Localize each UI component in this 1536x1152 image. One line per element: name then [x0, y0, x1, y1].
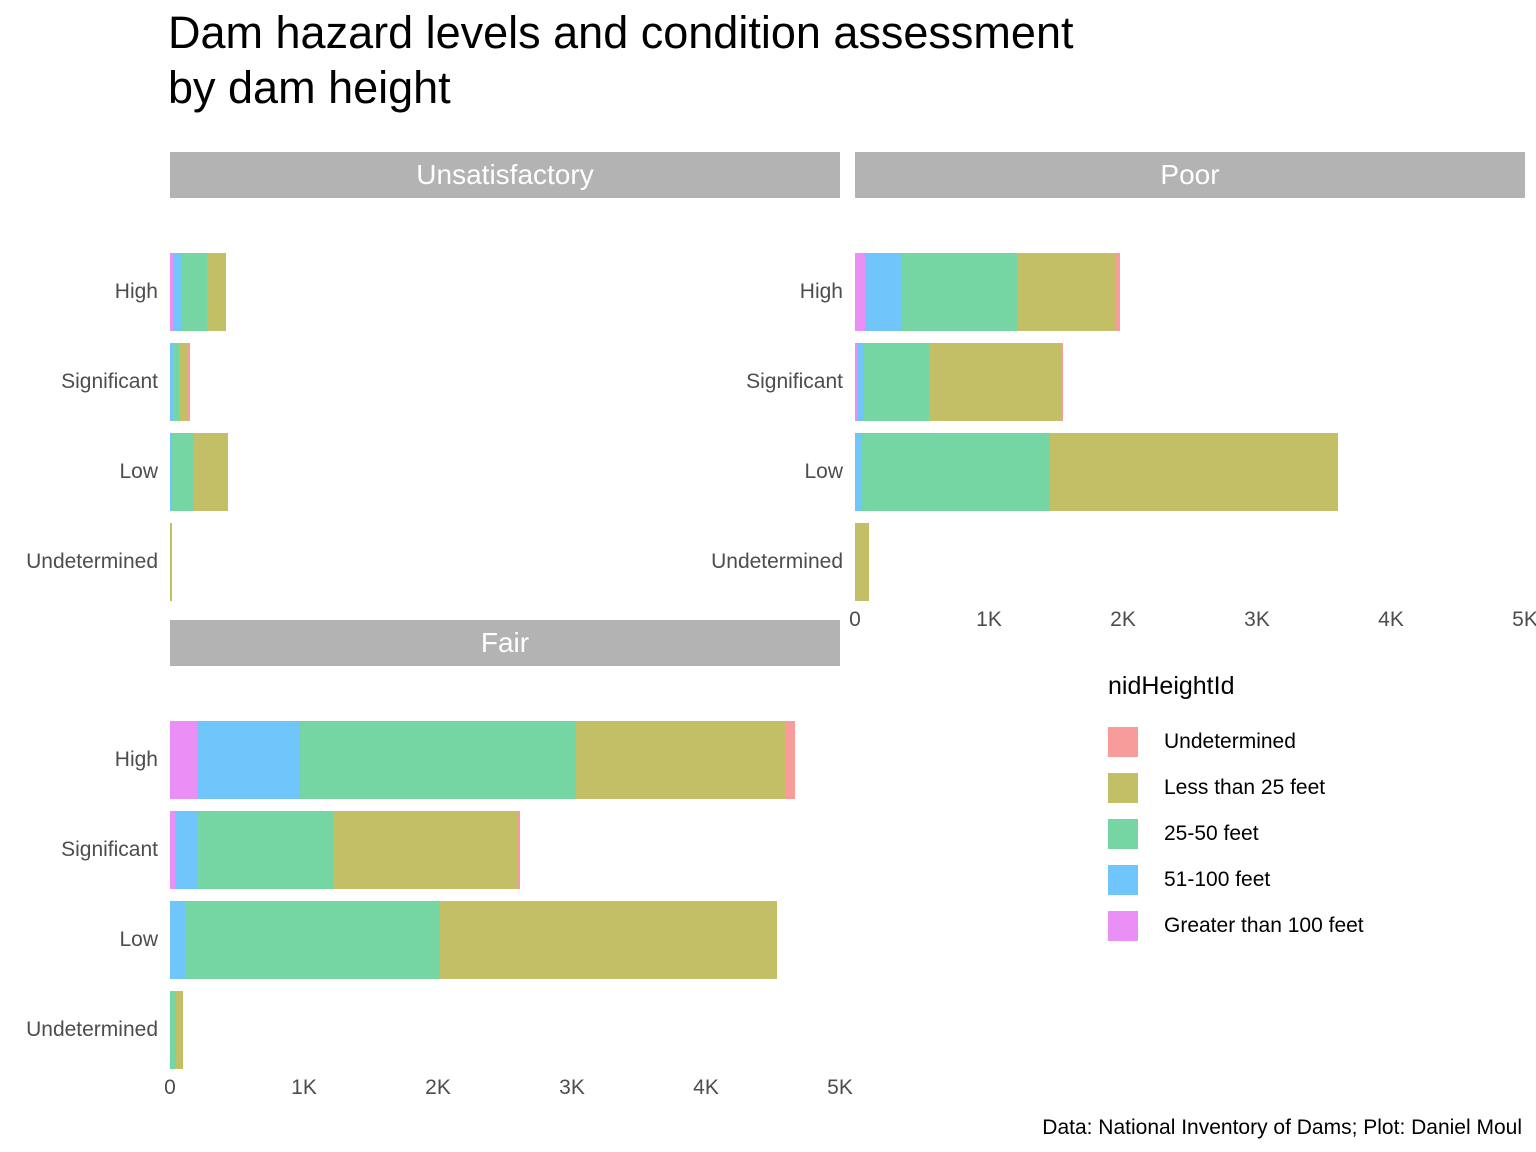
bar-segment[interactable] — [865, 253, 902, 331]
legend-swatch — [1108, 727, 1138, 757]
bar-segment[interactable] — [855, 433, 862, 511]
bar-segment[interactable] — [175, 811, 197, 889]
bar-row: High — [170, 721, 840, 799]
y-axis-tick-label: Low — [119, 460, 158, 484]
bar-segment[interactable] — [518, 811, 520, 889]
bar-segment[interactable] — [440, 901, 777, 979]
x-axis-poor: 01K2K3K4K5K — [855, 604, 1525, 638]
bar-row: High — [170, 253, 840, 331]
bar-row: Significant — [855, 343, 1525, 421]
x-axis-tick-label: 5K — [827, 1076, 853, 1100]
y-axis-tick-label: Significant — [746, 370, 843, 394]
facet-strip-label: Fair — [170, 620, 840, 666]
bar-segment[interactable] — [197, 721, 300, 799]
bar-segment[interactable] — [862, 433, 1050, 511]
bar-segment[interactable] — [902, 253, 1016, 331]
bar-row: Low — [170, 901, 840, 979]
bar-segment[interactable] — [179, 343, 188, 421]
bar-segment[interactable] — [207, 253, 225, 331]
x-axis-tick-label: 1K — [976, 608, 1002, 632]
x-axis-tick-label: 0 — [849, 608, 861, 632]
legend-item[interactable]: 25-50 feet — [1108, 811, 1528, 857]
facet-panel-poor: Poor HighSignificantLowUndetermined 01K2… — [855, 152, 1525, 598]
bar-segment[interactable] — [186, 901, 440, 979]
bar-segment[interactable] — [170, 523, 172, 601]
legend-label: Less than 25 feet — [1164, 776, 1325, 800]
y-axis-tick-label: Low — [119, 928, 158, 952]
bar-segment[interactable] — [182, 253, 207, 331]
bar-segment[interactable] — [1115, 253, 1120, 331]
bar-segment[interactable] — [855, 523, 869, 601]
legend-label: 25-50 feet — [1164, 822, 1259, 846]
legend-swatch — [1108, 865, 1138, 895]
legend-items: UndeterminedLess than 25 feet25-50 feet5… — [1108, 719, 1528, 949]
x-axis-tick-label: 5K — [1512, 608, 1536, 632]
bar-segment[interactable] — [188, 343, 190, 421]
legend-title: nidHeightId — [1108, 672, 1528, 701]
x-axis-tick-label: 4K — [693, 1076, 719, 1100]
bar-segment[interactable] — [1017, 253, 1115, 331]
legend-swatch — [1108, 773, 1138, 803]
bar-segment[interactable] — [1050, 433, 1339, 511]
page-title: Dam hazard levels and condition assessme… — [168, 6, 1468, 116]
bar-segment[interactable] — [576, 721, 786, 799]
y-axis-tick-label: Low — [804, 460, 843, 484]
facet-panel-unsatisfactory: Unsatisfactory HighSignificantLowUndeter… — [170, 152, 840, 598]
y-axis-tick-label: Undetermined — [26, 550, 158, 574]
bar-row: High — [855, 253, 1525, 331]
legend-swatch — [1108, 819, 1138, 849]
legend-swatch — [1108, 911, 1138, 941]
y-axis-tick-label: Undetermined — [26, 1018, 158, 1042]
x-axis-tick-label: 2K — [425, 1076, 451, 1100]
bar-segment[interactable] — [170, 901, 186, 979]
bar-segment[interactable] — [193, 433, 228, 511]
legend-item[interactable]: 51-100 feet — [1108, 857, 1528, 903]
bar-segment[interactable] — [176, 991, 183, 1069]
bar-segment[interactable] — [172, 433, 193, 511]
plot-area-unsatisfactory: HighSignificantLowUndetermined — [170, 198, 840, 598]
y-axis-tick-label: High — [115, 280, 158, 304]
legend-item[interactable]: Greater than 100 feet — [1108, 903, 1528, 949]
facet-strip-label: Unsatisfactory — [170, 152, 840, 198]
bar-row: Low — [170, 433, 840, 511]
bar-segment[interactable] — [857, 343, 864, 421]
caption: Data: National Inventory of Dams; Plot: … — [1042, 1116, 1522, 1140]
bar-segment[interactable] — [1061, 343, 1063, 421]
bar-segment[interactable] — [786, 721, 794, 799]
x-axis-tick-label: 0 — [164, 1076, 176, 1100]
y-axis-tick-label: High — [115, 748, 158, 772]
y-axis-tick-label: High — [800, 280, 843, 304]
facet-strip-label: Poor — [855, 152, 1525, 198]
plot-area-fair: HighSignificantLowUndetermined — [170, 666, 840, 1066]
legend: nidHeightId UndeterminedLess than 25 fee… — [1108, 672, 1528, 949]
x-axis-tick-label: 1K — [291, 1076, 317, 1100]
bar-segment[interactable] — [173, 253, 182, 331]
bar-segment[interactable] — [864, 343, 929, 421]
bar-segment[interactable] — [855, 253, 865, 331]
legend-label: Undetermined — [1164, 730, 1296, 754]
bar-row: Low — [855, 433, 1525, 511]
bar-segment[interactable] — [170, 721, 197, 799]
bar-segment[interactable] — [300, 721, 576, 799]
legend-label: 51-100 feet — [1164, 868, 1270, 892]
legend-item[interactable]: Undetermined — [1108, 719, 1528, 765]
bar-row: Undetermined — [855, 523, 1525, 601]
x-axis-tick-label: 3K — [1244, 608, 1270, 632]
y-axis-tick-label: Significant — [61, 370, 158, 394]
x-axis-tick-label: 4K — [1378, 608, 1404, 632]
x-axis-tick-label: 2K — [1110, 608, 1136, 632]
bar-segment[interactable] — [197, 811, 333, 889]
bar-row: Undetermined — [170, 991, 840, 1069]
facet-panel-fair: Fair HighSignificantLowUndetermined 01K2… — [170, 620, 840, 1066]
bar-row: Significant — [170, 811, 840, 889]
bar-row: Significant — [170, 343, 840, 421]
y-axis-tick-label: Undetermined — [711, 550, 843, 574]
legend-label: Greater than 100 feet — [1164, 914, 1364, 938]
bar-segment[interactable] — [929, 343, 1061, 421]
plot-area-poor: HighSignificantLowUndetermined — [855, 198, 1525, 598]
x-axis-fair: 01K2K3K4K5K — [170, 1072, 840, 1106]
x-axis-tick-label: 3K — [559, 1076, 585, 1100]
bar-segment[interactable] — [333, 811, 519, 889]
y-axis-tick-label: Significant — [61, 838, 158, 862]
legend-item[interactable]: Less than 25 feet — [1108, 765, 1528, 811]
